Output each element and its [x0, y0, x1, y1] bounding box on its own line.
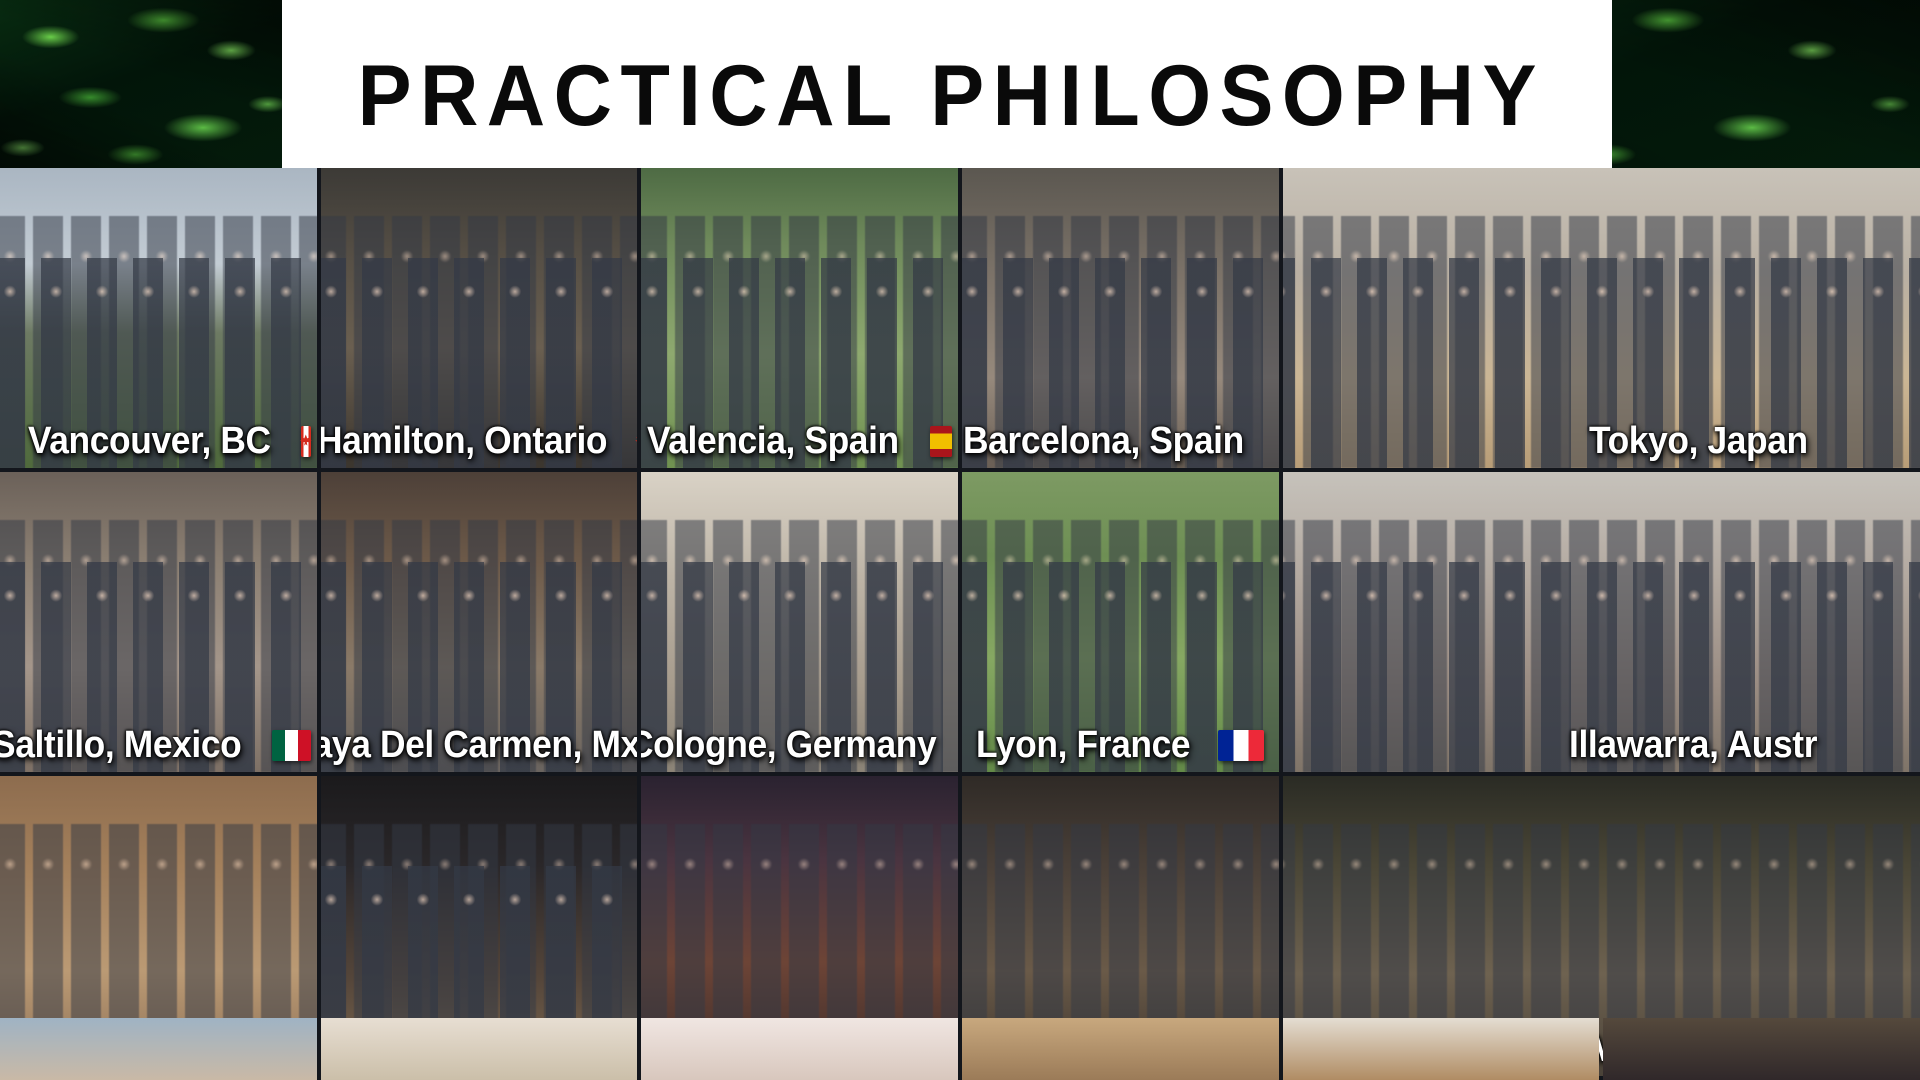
leaf-shadow-overlay-left [0, 0, 282, 168]
collage-partial-row [0, 1018, 1920, 1080]
collage-tile[interactable]: Vancouver, BC [0, 168, 317, 468]
flag-icon-es [930, 426, 952, 457]
collage-tile[interactable]: Saltillo, Mexico [0, 472, 317, 772]
collage-tile-partial[interactable] [1283, 1018, 1600, 1080]
tile-label: Barcelona, Spain [962, 422, 1279, 460]
tile-label: Lyon, France [962, 726, 1279, 764]
collage-tile-partial[interactable] [1603, 1018, 1920, 1080]
page-title: PRACTICAL PHILOSOPHY [349, 29, 1546, 139]
leaf-background-left [0, 0, 282, 168]
tile-label: Saltillo, Mexico [0, 726, 317, 764]
collage-tile[interactable]: Cologne, Germany [641, 472, 958, 772]
collage-tile[interactable]: Illawarra, Austr [1283, 472, 1920, 772]
tile-label-text: Illawarra, Austr [1569, 726, 1817, 764]
flag-icon-mx [272, 730, 311, 761]
collage-tile[interactable]: Valencia, Spain [641, 168, 958, 468]
tile-label: Valencia, Spain [641, 422, 958, 460]
tile-label-text: Playa Del Carmen, Mx [321, 726, 638, 764]
page-root: PRACTICAL PHILOSOPHY Vancouver, BC Hamil… [0, 0, 1920, 1080]
tile-label-text: Saltillo, Mexico [0, 726, 241, 764]
tile-label-text: Cologne, Germany [641, 726, 936, 764]
flag-icon-ca [301, 426, 311, 457]
tile-label-text: Tokyo, Japan [1589, 422, 1808, 460]
tile-label: Tokyo, Japan [1583, 422, 1920, 460]
collage-tile[interactable]: Tokyo, Japan [1283, 168, 1920, 468]
tile-label: Playa Del Carmen, Mx [321, 726, 638, 764]
tile-label: Illawarra, Austr [1563, 726, 1920, 764]
collage-tile-partial[interactable] [321, 1018, 638, 1080]
tile-label: Hamilton, Ontario [321, 422, 638, 460]
flag-icon-fr [1218, 730, 1264, 761]
photo-collage-grid: Vancouver, BC Hamilton, Ontario Valencia… [0, 168, 1920, 1080]
collage-tile[interactable]: Barcelona, Spain [962, 168, 1279, 468]
collage-tile-partial[interactable] [0, 1018, 317, 1080]
collage-tile[interactable]: Playa Del Carmen, Mx [321, 472, 638, 772]
collage-tile[interactable]: Lyon, France [962, 472, 1279, 772]
collage-tile-partial[interactable] [962, 1018, 1279, 1080]
tile-label-text: Barcelona, Spain [963, 422, 1244, 460]
header-banner: PRACTICAL PHILOSOPHY [0, 0, 1920, 168]
tile-label: Cologne, Germany [641, 726, 958, 764]
tile-label-text: Vancouver, BC [28, 422, 271, 460]
tile-label-text: Lyon, France [976, 726, 1190, 764]
title-card: PRACTICAL PHILOSOPHY [282, 0, 1612, 168]
tile-label-text: Valencia, Spain [647, 422, 899, 460]
collage-tile[interactable]: Hamilton, Ontario [321, 168, 638, 468]
collage-tile-partial[interactable] [641, 1018, 958, 1080]
tile-label-text: Hamilton, Ontario [321, 422, 608, 460]
tile-label: Vancouver, BC [22, 422, 317, 460]
